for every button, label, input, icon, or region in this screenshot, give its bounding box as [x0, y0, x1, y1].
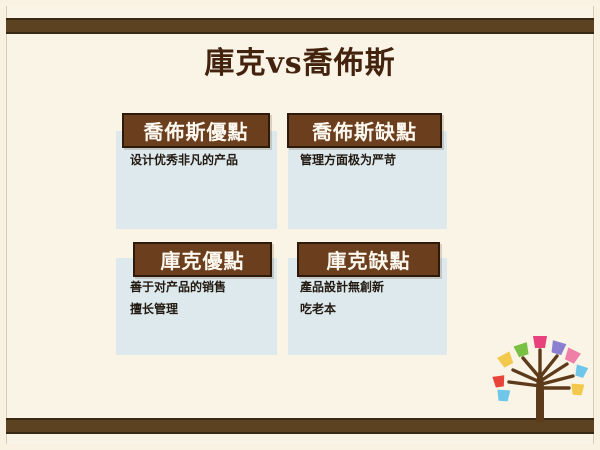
panel-cook-pros-line1: 善于对产品的销售 — [130, 276, 267, 298]
panel-cook-pros-body: 善于对产品的销售 擅长管理 — [130, 276, 267, 320]
panel-cook-cons-line1: 產品設計無創新 — [300, 276, 437, 298]
page-title: 庫克vs喬佈斯 — [0, 38, 600, 82]
header-jobs-pros[interactable]: 喬佈斯優點 — [122, 113, 270, 148]
panel-cook-pros-line2: 擅长管理 — [130, 298, 267, 320]
header-jobs-pros-label: 喬佈斯優點 — [144, 116, 249, 145]
tree-icon — [487, 330, 593, 422]
panel-cook-cons-body: 產品設計無創新 吃老本 — [300, 276, 437, 320]
header-jobs-cons-label: 喬佈斯缺點 — [312, 116, 417, 145]
panel-cook-cons-line2: 吃老本 — [300, 298, 437, 320]
header-cook-pros[interactable]: 庫克優點 — [133, 242, 272, 277]
header-cook-pros-label: 庫克優點 — [161, 245, 245, 274]
top-band — [6, 18, 594, 34]
header-jobs-cons[interactable]: 喬佈斯缺點 — [287, 113, 442, 148]
panel-jobs-cons-body: 管理方面极为严苛 — [300, 149, 437, 171]
slide: 庫克vs喬佈斯 设计优秀非凡的产品 喬佈斯優點 管理方面极为严苛 喬佈斯缺點 善… — [0, 0, 600, 450]
header-cook-cons[interactable]: 庫克缺點 — [297, 242, 440, 277]
panel-jobs-pros-body: 设计优秀非凡的产品 — [130, 149, 267, 171]
header-cook-cons-label: 庫克缺點 — [327, 245, 411, 274]
